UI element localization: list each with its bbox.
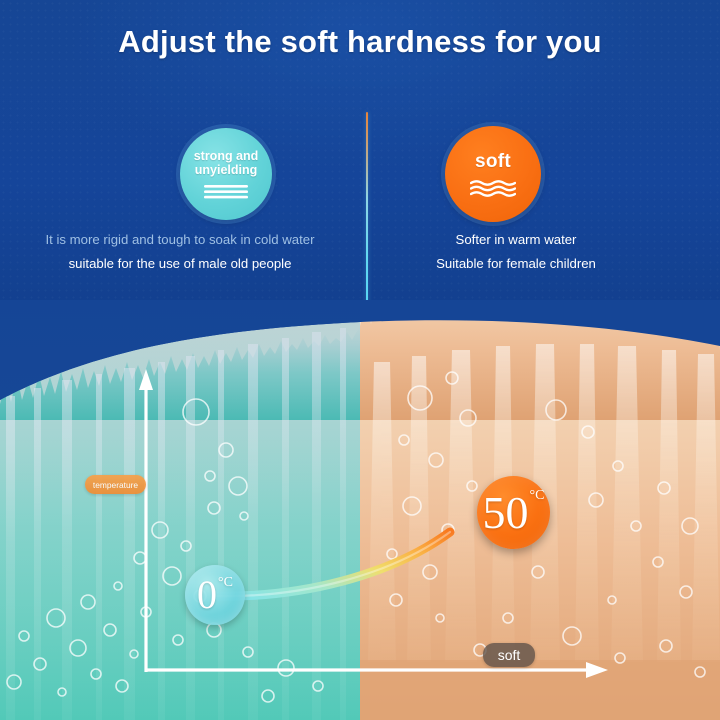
x-axis-label-pill: soft bbox=[483, 643, 535, 667]
page-title: Adjust the soft hardness for you bbox=[0, 24, 720, 60]
hot-temperature-bubble: 50 °C bbox=[477, 476, 550, 549]
wavy-lines-icon bbox=[470, 179, 516, 197]
hot-temperature-unit: °C bbox=[530, 488, 545, 504]
caption-right-secondary: Suitable for female children bbox=[366, 256, 666, 271]
badge-right-label: soft bbox=[475, 151, 511, 172]
caption-right-primary: Softer in warm water bbox=[366, 232, 666, 247]
cold-temperature-value: 0 bbox=[197, 575, 217, 615]
vertical-divider bbox=[366, 112, 368, 305]
badge-soft[interactable]: soft bbox=[445, 126, 541, 222]
caption-left-primary: It is more rigid and tough to soak in co… bbox=[0, 232, 360, 247]
badge-strong-unyielding[interactable]: strong and unyielding bbox=[180, 128, 272, 220]
infographic-root: Adjust the soft hardness for you strong … bbox=[0, 0, 720, 720]
cold-temperature-bubble: 0 °C bbox=[185, 565, 245, 625]
straight-lines-icon bbox=[204, 184, 248, 200]
hot-temperature-value: 50 bbox=[483, 490, 529, 536]
bristle-photo bbox=[0, 300, 720, 720]
badge-left-label: strong and unyielding bbox=[180, 149, 272, 177]
y-axis-label-pill: temperature bbox=[85, 475, 146, 494]
cold-temperature-unit: °C bbox=[218, 575, 233, 591]
caption-left-secondary: suitable for the use of male old people bbox=[0, 256, 360, 271]
